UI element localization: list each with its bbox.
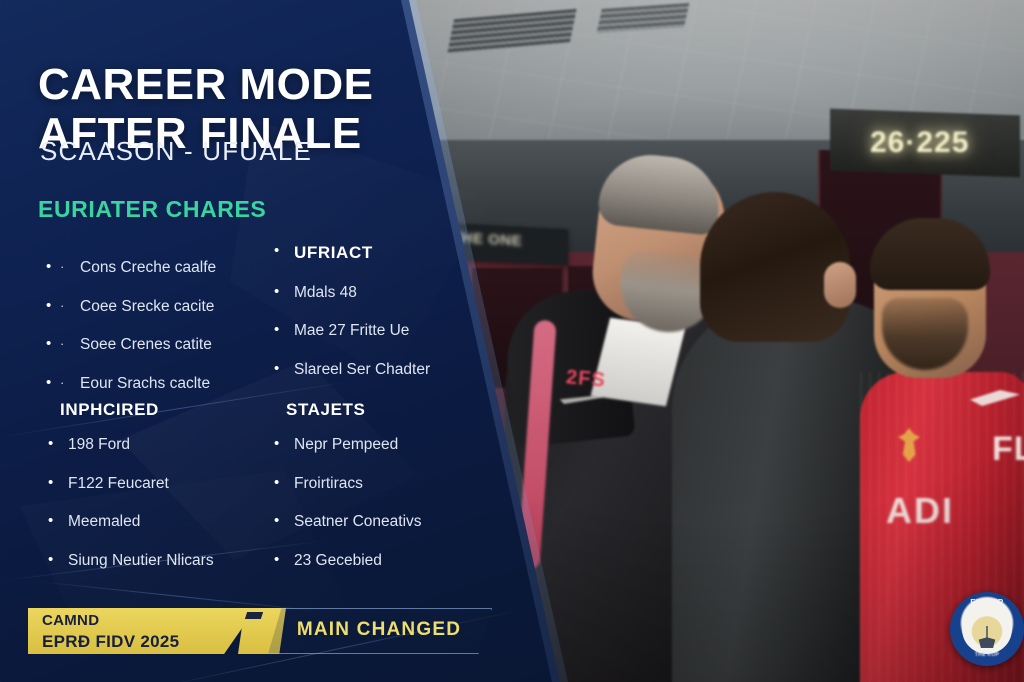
- list-item-label: Coee Srecke cacite: [80, 298, 214, 315]
- crest-top-text: EMOIFR: [950, 598, 1024, 607]
- list-item: Seatner Coneativs: [272, 513, 507, 532]
- list-item: ·Cons Creche caalfe: [46, 259, 276, 278]
- list-item: Slareel Ser Chadter: [272, 361, 502, 380]
- list-item-label: Eour Srachs caclte: [80, 375, 210, 392]
- kit-sponsor-main-text: ADI: [886, 490, 954, 532]
- brand-badge-line1: CAMND: [42, 612, 99, 629]
- bullet-list: UFRIACT Mdals 48 Mae 27 Fritte Ue Slaree…: [272, 243, 502, 379]
- list-item-label: F122 Feucaret: [68, 475, 169, 492]
- bullet-list: ·Cons Creche caalfe ·Coee Srecke cacite …: [46, 259, 276, 393]
- cta-button-label[interactable]: MAIN CHANGED: [268, 608, 490, 652]
- list-item: 198 Ford: [46, 436, 281, 455]
- bullet-list: 198 Ford F122 Feucaret Meemaled Siung Ne…: [46, 436, 281, 570]
- page-title-line1: CAREER MODE: [38, 60, 374, 109]
- list-item-label: 23 Gecebied: [294, 552, 382, 569]
- list-group-right-bottom: STAJETS Nepr Pempeed Froirtiracs Seatner…: [272, 400, 507, 590]
- list-item-label: Slareel Ser Chadter: [294, 361, 430, 378]
- list-item: ·Eour Srachs caclte: [46, 375, 276, 394]
- list-item-label: Soee Crenes catite: [80, 336, 212, 353]
- list-item: Nepr Pempeed: [272, 436, 507, 455]
- kit-sponsor-sleeve-text: FL: [992, 430, 1024, 469]
- list-item-label: Seatner Coneativs: [294, 513, 422, 530]
- section-heading-primary: EURIATER CHARES: [38, 196, 266, 223]
- brand-badge-notch: [245, 612, 263, 619]
- list-item: Mae 27 Fritte Ue: [272, 322, 502, 341]
- list-item: ·Coee Srecke cacite: [46, 298, 276, 317]
- list-group-left-bottom: INPHCIRED 198 Ford F122 Feucaret Meemale…: [46, 400, 281, 590]
- infographic-canvas: THE ONE 26·225 2FS ADI FL EMOIFR: [0, 0, 1024, 682]
- list-item-label: Froirtiracs: [294, 475, 363, 492]
- list-item: Siung Neutier Nlicars: [46, 552, 281, 571]
- sub-bullet-icon: ·: [60, 259, 64, 275]
- list-item: Meemaled: [46, 513, 281, 532]
- list-item: Froirtiracs: [272, 475, 507, 494]
- list-item-label: Nepr Pempeed: [294, 436, 398, 453]
- list-group-heading: UFRIACT: [294, 243, 373, 262]
- list-item: ·Soee Crenes catite: [46, 336, 276, 355]
- list-item-heading: UFRIACT: [272, 243, 502, 264]
- back-facing-figure-ear: [824, 262, 856, 308]
- list-item-label: Cons Creche caalfe: [80, 259, 216, 276]
- list-item-label: 198 Ford: [68, 436, 130, 453]
- list-item: F122 Feucaret: [46, 475, 281, 494]
- sub-bullet-icon: ·: [60, 298, 64, 314]
- bullet-list: Nepr Pempeed Froirtiracs Seatner Coneati…: [272, 436, 507, 570]
- scoreboard-text: 26·225: [870, 126, 969, 160]
- list-item-label: Mae 27 Fritte Ue: [294, 322, 409, 339]
- list-item-label: Meemaled: [68, 513, 140, 530]
- club-crest-badge: EMOIFR THE KOP: [950, 592, 1024, 666]
- list-item: Mdals 48: [272, 284, 502, 303]
- list-item: 23 Gecebied: [272, 552, 507, 571]
- list-group-heading: INPHCIRED: [60, 400, 281, 420]
- list-group-right-top: UFRIACT Mdals 48 Mae 27 Fritte Ue Slaree…: [272, 243, 502, 399]
- sub-bullet-icon: ·: [60, 336, 64, 352]
- brand-badge-text: CAMND EPRÐ FIDV 2025: [42, 612, 179, 652]
- sub-bullet-icon: ·: [60, 375, 64, 391]
- list-group-left-top: ·Cons Creche caalfe ·Coee Srecke cacite …: [46, 243, 276, 413]
- kit-code-text: 2FS: [565, 366, 607, 392]
- list-item-label: Siung Neutier Nlicars: [68, 552, 214, 569]
- page-subtitle: SCAASON - UFUALE: [40, 136, 312, 167]
- list-group-heading: STAJETS: [286, 400, 507, 420]
- crest-bottom-text: THE KOP: [950, 652, 1024, 658]
- brand-badge-line2: EPRÐ FIDV 2025: [42, 631, 179, 652]
- list-item-label: Mdals 48: [294, 284, 357, 301]
